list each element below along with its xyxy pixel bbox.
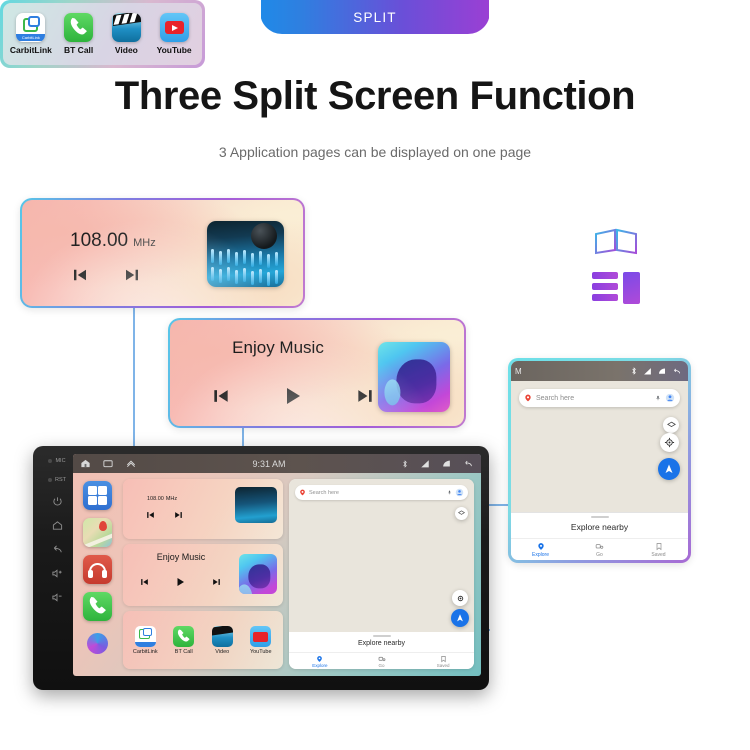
dock-label-btcall: BT Call [64,45,93,55]
phone-icon[interactable] [83,592,112,621]
previous-track-icon[interactable] [145,510,156,520]
carbit-badge-strip [135,642,156,647]
map-callout-card: M [508,358,691,563]
apps-grid-icon[interactable] [83,481,112,510]
ring-indicator-icon[interactable] [87,633,108,654]
phone-handset-shape [64,13,93,42]
map-pane-nav-explore[interactable]: Explore [289,653,351,669]
map-bottom-sheet[interactable]: Explore nearby [511,512,688,538]
layout-bar [592,272,618,279]
map-pane-nav-go[interactable]: Go [351,653,413,669]
volume-down-icon[interactable] [51,592,63,603]
map-navigate-button[interactable] [658,458,680,480]
microphone-icon[interactable] [447,489,452,496]
layout-bar [592,283,618,290]
compass-icon [456,594,465,603]
compass-icon [664,437,675,448]
open-book-layout-icon [592,226,640,256]
radio-callout-card: 108.00MHz [20,198,305,308]
dock-pane-app-carbitlink[interactable]: CarbitLink [128,626,163,655]
previous-track-icon[interactable] [139,577,150,587]
map-pane-bottom-nav: Explore Go [289,652,474,669]
signal-icon [420,459,430,469]
carbitlink-icon [135,626,156,647]
map-card-frame: M [508,358,691,563]
dock-label-carbitlink: CarbitLink [10,45,52,55]
mic-dot-shape [48,459,52,463]
map-pane-navigate-button[interactable] [451,609,469,627]
map-pane-explore-label: Explore nearby [358,640,405,647]
youtube-icon [160,13,189,42]
app-rail [77,479,117,669]
music-pane-controls [139,576,222,588]
headphone-right-shape [102,570,107,578]
music-transport-controls [210,384,376,408]
google-maps-pin-icon [524,393,532,403]
back-icon[interactable] [672,367,682,376]
reset-dot-shape [48,478,52,482]
map-search-placeholder: Search here [536,395,651,402]
mixer-faders-shape [207,243,284,285]
bezel-reset[interactable]: RST [48,477,66,483]
singer-silhouette-shape [248,564,270,588]
map-layers-button[interactable] [663,417,679,433]
bezel-mic-label: MIC [55,458,65,464]
dock-pane-app-video[interactable]: Video [205,626,240,655]
radio-pane[interactable]: 108.00MHz [123,479,283,539]
dock-label-youtube: YouTube [157,45,192,55]
map-card-time: M [515,367,522,376]
map-card-canvas[interactable]: Search here [511,381,688,512]
wifi-icon [441,459,452,469]
radio-frequency: 108.00MHz [70,230,156,252]
map-nav-explore[interactable]: Explore [511,539,570,560]
map-search-field[interactable]: Search here [519,389,680,407]
map-card-statusbar: M [511,361,688,381]
video-clapper-icon [212,626,233,647]
head-unit-home: 108.00MHz [73,473,481,676]
singer-silhouette-shape [396,359,436,403]
split-panes: 108.00MHz [123,479,474,669]
map-pane-nav-go-label: Go [379,663,385,668]
clapper-board-shape [113,13,141,26]
dock-pane-label-carbitlink: CarbitLink [133,649,158,655]
youtube-play-shape [253,632,268,642]
map-nav-go[interactable]: Go [570,539,629,560]
next-track-icon[interactable] [354,386,376,406]
back-icon[interactable] [52,544,63,555]
youtube-icon [250,626,271,647]
map-compass-button[interactable] [660,433,679,452]
dock-label-video: Video [115,45,138,55]
bookmark-icon [440,655,447,663]
car-head-unit: MIC RST [33,446,489,690]
navigation-arrow-icon [455,613,465,623]
bluetooth-icon [630,366,638,376]
power-icon[interactable] [52,496,63,507]
map-pane[interactable]: Search here [289,479,474,669]
map-card-screen: M [511,361,688,560]
play-icon[interactable] [174,576,187,588]
google-maps-pin-icon [299,488,306,497]
head-unit-time: 9:31 AM [148,459,390,469]
map-pane-nav-saved[interactable]: Saved [412,653,474,669]
map-nav-go-label: Go [596,552,603,558]
commute-icon [595,542,604,551]
three-pane-layout-icon [592,272,640,304]
microphone-icon[interactable] [655,394,661,402]
dock-pane-label-youtube: YouTube [250,649,272,655]
radio-pane-controls [145,510,184,520]
maps-icon[interactable] [83,518,112,547]
map-card-status-icons [630,366,682,376]
youtube-play-shape [165,21,184,34]
page-subtitle: 3 Application pages can be displayed on … [0,144,750,160]
sheet-grabber[interactable] [591,516,609,518]
layers-icon [458,510,465,517]
carbitlink-icon: CarbitLink [16,13,45,42]
map-nav-explore-label: Explore [532,552,549,558]
chevron-up-icon[interactable] [125,458,137,469]
music-icon[interactable] [83,555,112,584]
bezel-reset-label: RST [55,477,66,483]
next-track-icon[interactable] [122,266,142,284]
map-pane-layers-button[interactable] [455,507,468,520]
map-pane-search-placeholder: Search here [309,490,444,496]
location-pin-icon [316,655,323,663]
map-pane-compass-button[interactable] [452,590,468,606]
next-track-icon[interactable] [173,510,184,520]
carbit-blue-square-shape [28,16,40,27]
carbit-blue-square-shape [143,628,152,636]
map-bottom-nav: Explore Go Saved [511,538,688,560]
radio-card-surface: 108.00MHz [22,200,303,306]
split-ribbon: SPLIT [260,0,490,34]
back-icon[interactable] [463,459,474,469]
navigation-arrow-icon [663,463,675,475]
radio-pane-artwork [235,487,277,523]
layout-right-panel [623,272,640,304]
music-pane-title: Enjoy Music [123,552,239,562]
head-unit-statusbar: 9:31 AM [73,454,481,473]
dock-pane: CarbitLink BT Call [123,611,283,669]
play-icon[interactable] [280,384,306,408]
page-title: Three Split Screen Function [0,74,750,119]
radio-frequency-unit: MHz [133,237,156,249]
location-pin-icon [537,542,545,551]
music-callout-card: Enjoy Music [168,318,466,428]
phone-icon [173,626,194,647]
bezel-mic: MIC [48,458,65,464]
layout-left-column [592,272,618,304]
bluetooth-icon [401,459,409,469]
next-track-icon[interactable] [211,577,222,587]
music-card-surface: Enjoy Music [170,320,464,426]
music-pane[interactable]: Enjoy Music [123,544,283,606]
signal-icon [643,367,652,376]
home-icon[interactable] [80,458,91,469]
music-pane-artwork [239,554,277,594]
layout-bar [592,294,618,301]
phone-handset-shape [173,626,194,647]
dock-pane-app-btcall[interactable]: BT Call [166,626,201,655]
phone-icon [64,13,93,42]
map-pane-bottom-sheet[interactable]: Explore nearby [289,632,474,652]
account-avatar-icon[interactable] [665,393,675,403]
previous-track-icon[interactable] [70,266,90,284]
left-pane-column: 108.00MHz [123,479,283,669]
headphone-left-shape [88,570,93,578]
carbitlink-badge: CarbitLink [16,34,45,41]
radio-frequency-value: 108.00 [70,230,128,251]
radio-pane-frequency-value: 108.00 [147,496,164,502]
previous-track-icon[interactable] [210,386,232,406]
clapper-board-shape [212,626,233,635]
bookmark-icon [655,542,663,551]
volume-up-icon[interactable] [51,568,63,579]
commute-icon [378,655,386,663]
dock-pane-label-video: Video [215,649,229,655]
dock-pane-app-youtube[interactable]: YouTube [243,626,278,655]
split-ribbon-label: SPLIT [353,10,397,25]
map-nav-saved[interactable]: Saved [629,539,688,560]
account-avatar-icon[interactable] [455,488,464,497]
head-unit-left-bezel: MIC RST [41,454,73,676]
music-artwork [378,342,450,412]
radio-pane-frequency-unit: MHz [166,496,177,502]
map-road-shape [83,532,112,547]
home-icon[interactable] [52,520,63,531]
recents-icon[interactable] [102,458,114,469]
promo-page: SPLIT Three Split Screen Function 3 Appl… [0,0,750,750]
sheet-grabber[interactable] [373,635,391,637]
video-clapper-icon [112,13,141,42]
head-unit-screen: 9:31 AM [73,454,481,676]
map-nav-saved-label: Saved [651,552,665,558]
layers-icon [667,421,676,430]
map-pane-canvas[interactable]: Search here [289,479,474,632]
map-pane-nav-saved-label: Saved [437,663,450,668]
map-pin-shape [99,521,107,531]
wifi-icon [657,367,667,376]
explore-nearby-label: Explore nearby [571,522,628,532]
dock-pane-label-btcall: BT Call [175,649,193,655]
map-pane-nav-explore-label: Explore [312,663,327,668]
radio-pane-frequency: 108.00MHz [145,492,177,502]
phone-handset-shape [83,592,112,621]
radio-artwork [207,221,284,287]
map-pane-search-field[interactable]: Search here [295,485,468,500]
radio-transport-controls [70,266,142,284]
